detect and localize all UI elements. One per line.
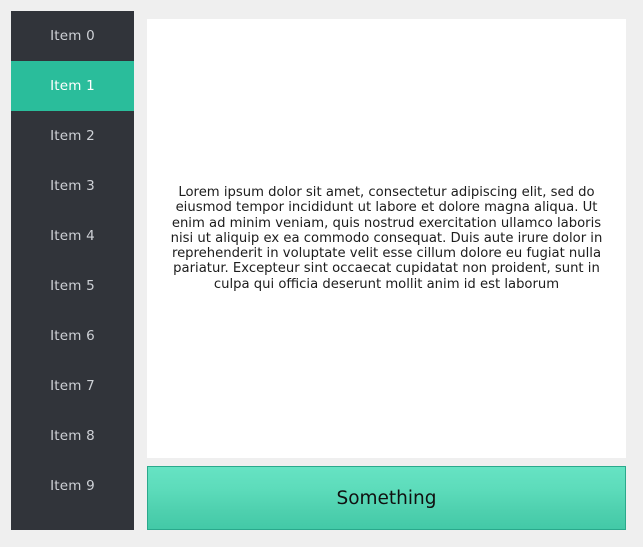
sidebar-item-label: Item 1 [50, 78, 95, 94]
lorem-ipsum-paragraph: Lorem ipsum dolor sit amet, consectetur … [167, 185, 607, 292]
sidebar-item-label: Item 9 [50, 478, 95, 494]
something-button[interactable]: Something [147, 466, 626, 530]
sidebar-item-3[interactable]: Item 3 [11, 161, 134, 211]
sidebar-item-label: Item 5 [50, 278, 95, 294]
sidebar-item-label: Item 8 [50, 428, 95, 444]
sidebar-item-0[interactable]: Item 0 [11, 11, 134, 61]
sidebar-item-label: Item 6 [50, 328, 95, 344]
sidebar-item-5[interactable]: Item 5 [11, 261, 134, 311]
app-root: Item 0Item 1Item 2Item 3Item 4Item 5Item… [0, 0, 643, 547]
sidebar-item-label: Item 3 [50, 178, 95, 194]
sidebar: Item 0Item 1Item 2Item 3Item 4Item 5Item… [11, 11, 134, 530]
content-panel: Lorem ipsum dolor sit amet, consectetur … [147, 19, 626, 458]
sidebar-item-1[interactable]: Item 1 [11, 61, 134, 111]
sidebar-item-2[interactable]: Item 2 [11, 111, 134, 161]
sidebar-item-label: Item 4 [50, 228, 95, 244]
sidebar-item-list: Item 0Item 1Item 2Item 3Item 4Item 5Item… [11, 11, 134, 511]
sidebar-item-6[interactable]: Item 6 [11, 311, 134, 361]
sidebar-item-label: Item 2 [50, 128, 95, 144]
sidebar-item-4[interactable]: Item 4 [11, 211, 134, 261]
sidebar-item-label: Item 7 [50, 378, 95, 394]
sidebar-item-label: Item 0 [50, 28, 95, 44]
sidebar-item-9[interactable]: Item 9 [11, 461, 134, 511]
sidebar-item-8[interactable]: Item 8 [11, 411, 134, 461]
sidebar-item-7[interactable]: Item 7 [11, 361, 134, 411]
